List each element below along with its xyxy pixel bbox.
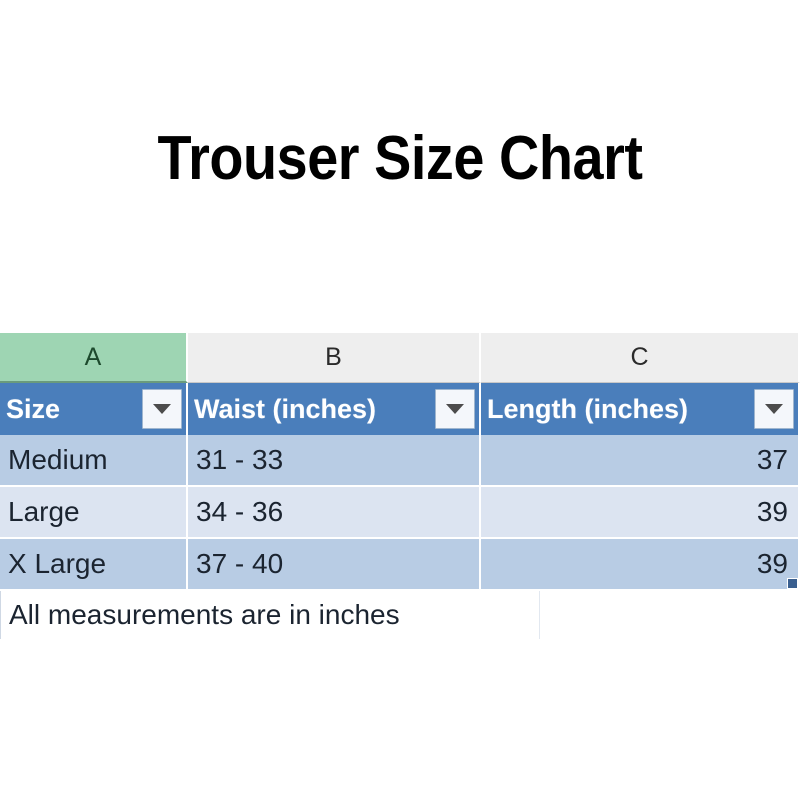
table-row: X Large 37 - 40 39 bbox=[0, 539, 800, 591]
table-row: Medium 31 - 33 37 bbox=[0, 435, 800, 487]
cell-size[interactable]: Medium bbox=[0, 435, 188, 487]
column-header-b[interactable]: B bbox=[188, 333, 481, 383]
column-header-c[interactable]: C bbox=[481, 333, 800, 383]
cell-length[interactable]: 39 bbox=[481, 539, 800, 591]
filter-dropdown-icon-length[interactable] bbox=[754, 389, 794, 429]
header-cell-length: Length (inches) bbox=[481, 383, 800, 435]
chevron-down-icon bbox=[765, 404, 783, 414]
size-chart-page: Trouser Size Chart A B C Size Waist (inc… bbox=[0, 0, 800, 800]
cell-waist[interactable]: 34 - 36 bbox=[188, 487, 481, 539]
header-label-waist: Waist (inches) bbox=[194, 394, 435, 425]
header-cell-size: Size bbox=[0, 383, 188, 435]
selection-fill-handle[interactable] bbox=[787, 578, 798, 589]
cell-size[interactable]: X Large bbox=[0, 539, 188, 591]
filter-dropdown-icon-size[interactable] bbox=[142, 389, 182, 429]
page-title: Trouser Size Chart bbox=[40, 128, 760, 190]
footer-note-filler bbox=[540, 591, 800, 639]
column-header-a[interactable]: A bbox=[0, 333, 188, 383]
cell-size[interactable]: Large bbox=[0, 487, 188, 539]
cell-length[interactable]: 37 bbox=[481, 435, 800, 487]
footer-note-row: All measurements are in inches bbox=[0, 591, 800, 639]
cell-waist[interactable]: 37 - 40 bbox=[188, 539, 481, 591]
spreadsheet-table: A B C Size Waist (inches) Length (inches… bbox=[0, 333, 800, 639]
chevron-down-icon bbox=[446, 404, 464, 414]
footer-note[interactable]: All measurements are in inches bbox=[0, 591, 540, 639]
filter-dropdown-icon-waist[interactable] bbox=[435, 389, 475, 429]
header-label-size: Size bbox=[6, 394, 142, 425]
cell-length[interactable]: 39 bbox=[481, 487, 800, 539]
table-header-row: Size Waist (inches) Length (inches) bbox=[0, 383, 800, 435]
chevron-down-icon bbox=[153, 404, 171, 414]
table-row: Large 34 - 36 39 bbox=[0, 487, 800, 539]
cell-length-value: 39 bbox=[757, 548, 788, 580]
cell-waist[interactable]: 31 - 33 bbox=[188, 435, 481, 487]
header-cell-waist: Waist (inches) bbox=[188, 383, 481, 435]
column-letter-row: A B C bbox=[0, 333, 800, 383]
header-label-length: Length (inches) bbox=[487, 394, 754, 425]
